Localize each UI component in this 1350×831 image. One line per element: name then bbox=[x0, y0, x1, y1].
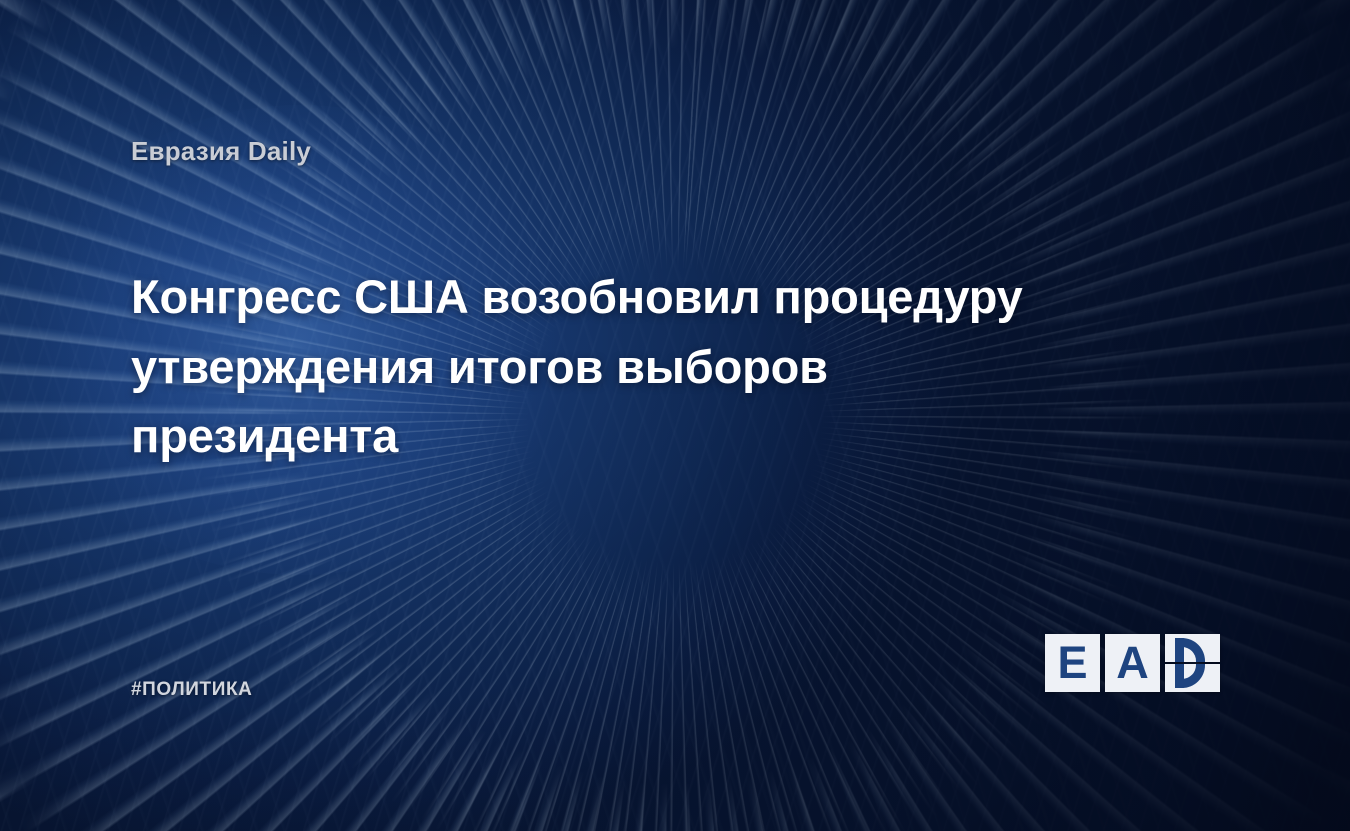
logo-letter-e: E bbox=[1057, 640, 1087, 685]
logo-tile-a: A bbox=[1105, 634, 1160, 692]
logo-d-upper-half bbox=[1165, 634, 1220, 662]
page-title: Конгресс США возобновил процедуру утверж… bbox=[131, 262, 1171, 471]
logo-tile-e: E bbox=[1045, 634, 1100, 692]
article-card: Евразия Daily Конгресс США возобновил пр… bbox=[0, 0, 1350, 831]
logo-letter-a: A bbox=[1116, 640, 1149, 685]
headline-line-2: утверждения итогов выборов bbox=[131, 332, 1171, 402]
headline-line-1: Конгресс США возобновил процедуру bbox=[131, 262, 1171, 332]
category-tag[interactable]: #ПОЛИТИКА bbox=[131, 679, 253, 701]
logo-d-lower-bowl bbox=[1175, 664, 1205, 688]
logo-tile-d bbox=[1165, 634, 1220, 692]
eadaily-logo-mark[interactable]: E A bbox=[1045, 634, 1220, 692]
brand-name: Евразия Daily bbox=[131, 136, 311, 167]
logo-d-upper-bowl bbox=[1175, 638, 1205, 662]
logo-d-lower-half bbox=[1165, 664, 1220, 692]
headline-line-3: президента bbox=[131, 401, 1171, 471]
